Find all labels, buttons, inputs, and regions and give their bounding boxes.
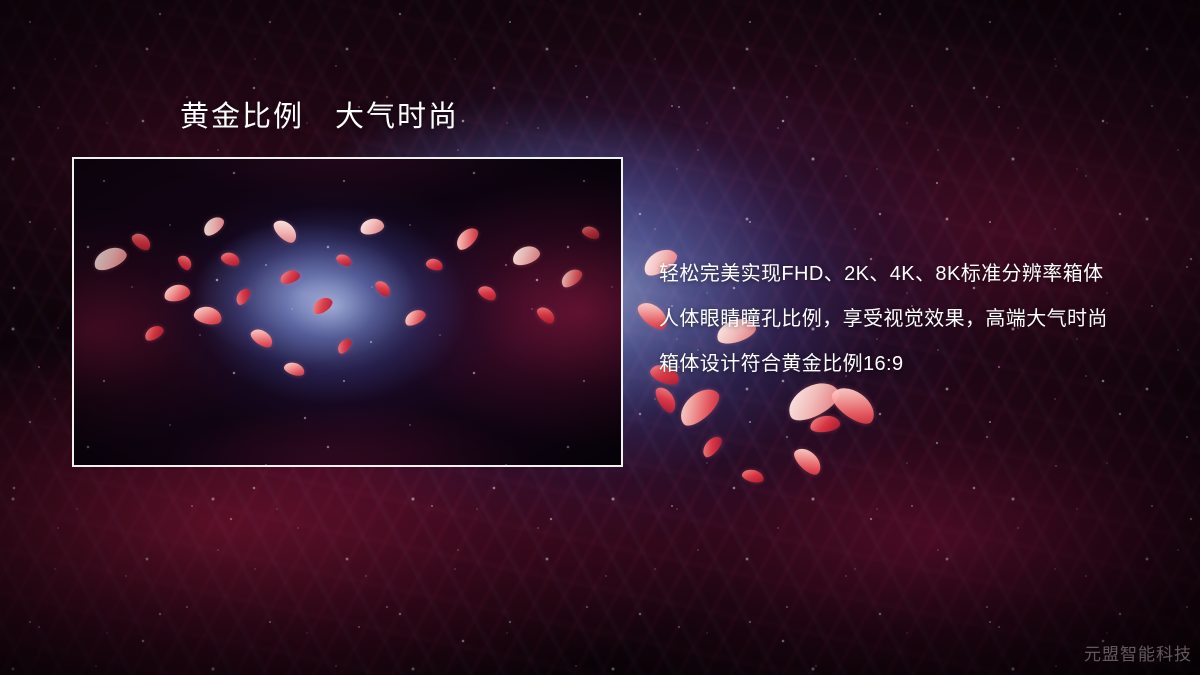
panel-vignette — [74, 159, 621, 465]
watermark: 元盟智能科技 — [1084, 640, 1192, 665]
body-line: 人体眼睛瞳孔比例，享受视觉效果，高端大气时尚 — [659, 297, 1179, 342]
body-line: 轻松完美实现FHD、2K、4K、8K标准分辨率箱体 — [659, 252, 1179, 297]
page-title: 黄金比例 大气时尚 — [180, 101, 459, 134]
flower-petal — [827, 380, 881, 429]
flower-petal — [741, 468, 765, 485]
flower-petal — [652, 384, 680, 416]
body-copy: 轻松完美实现FHD、2K、4K、8K标准分辨率箱体人体眼睛瞳孔比例，享受视觉效果… — [659, 252, 1179, 387]
flower-petal — [790, 443, 826, 478]
body-line: 箱体设计符合黄金比例16:9 — [659, 342, 1179, 387]
flower-petal — [674, 382, 725, 431]
flower-petal — [699, 433, 724, 460]
picture-frame-image — [74, 159, 621, 465]
flower-petal — [809, 414, 841, 434]
picture-frame — [72, 157, 623, 467]
presentation-slide: 黄金比例 大气时尚 轻松完美实现FHD、2K、4K、8K标准分辨率箱体人体眼睛瞳… — [0, 0, 1200, 675]
